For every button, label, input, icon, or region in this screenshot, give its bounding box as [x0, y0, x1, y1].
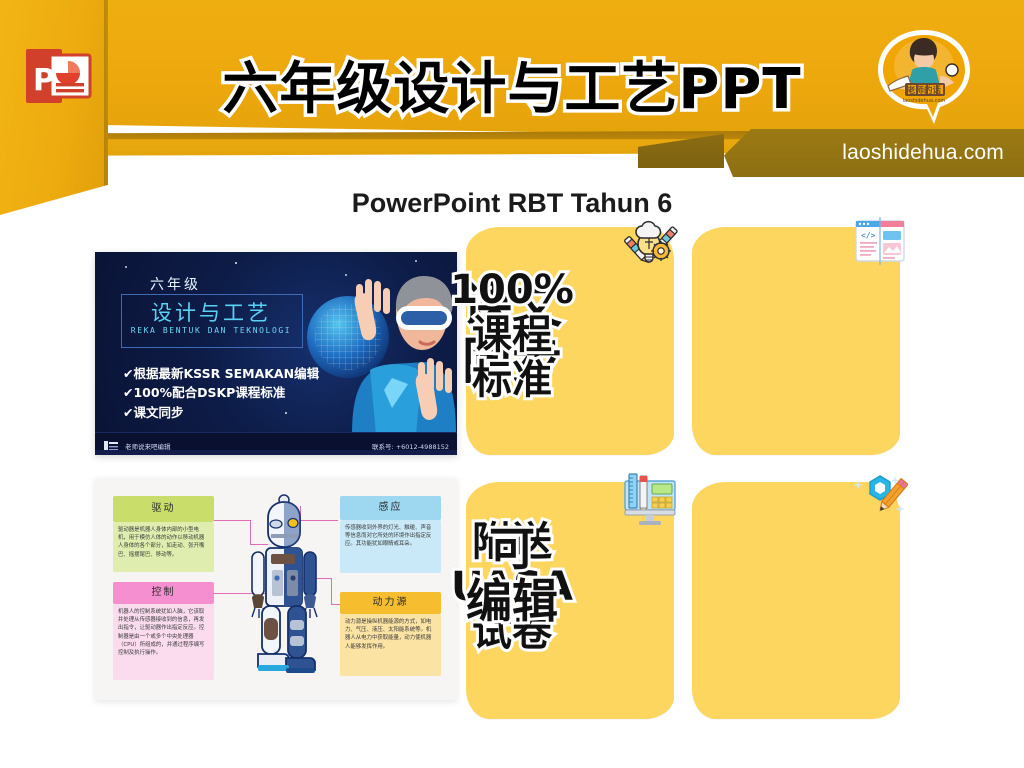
website-url-label[interactable]: laoshidehua.com — [744, 141, 1004, 165]
page-title: 六年级设计与工艺PPT — [0, 44, 1024, 125]
card-line: 课程 — [0, 313, 1024, 358]
diagram-label-title: 驱动 — [113, 500, 214, 517]
slide-bullet-item: ✔课文同步 — [123, 403, 319, 422]
slide-footer-underline — [95, 450, 457, 455]
diagram-label-title: 感应 — [340, 499, 441, 516]
card-line: 编辑 — [0, 576, 1024, 628]
promo-page: P 老师的话 lao — [0, 0, 1024, 768]
page-header: P 老师的话 lao — [0, 0, 1024, 186]
feature-card-editable-label: 可 编辑 — [0, 524, 1024, 627]
star-dot — [235, 262, 237, 264]
card-line: 标准 — [0, 358, 1024, 403]
feature-card-curriculum-standard-label: 100% 课程 标准 — [0, 268, 1024, 402]
card-line: 100% — [0, 268, 1024, 313]
lightbulb-pencils-gear-icon — [622, 218, 678, 274]
hexagon-pencil-edit-icon — [852, 470, 908, 526]
webpage-code-layout-icon: </> — [852, 215, 908, 271]
code-tag-glyph: </> — [861, 231, 876, 240]
card-line: 可 — [0, 524, 1024, 576]
star-dot — [415, 260, 417, 262]
